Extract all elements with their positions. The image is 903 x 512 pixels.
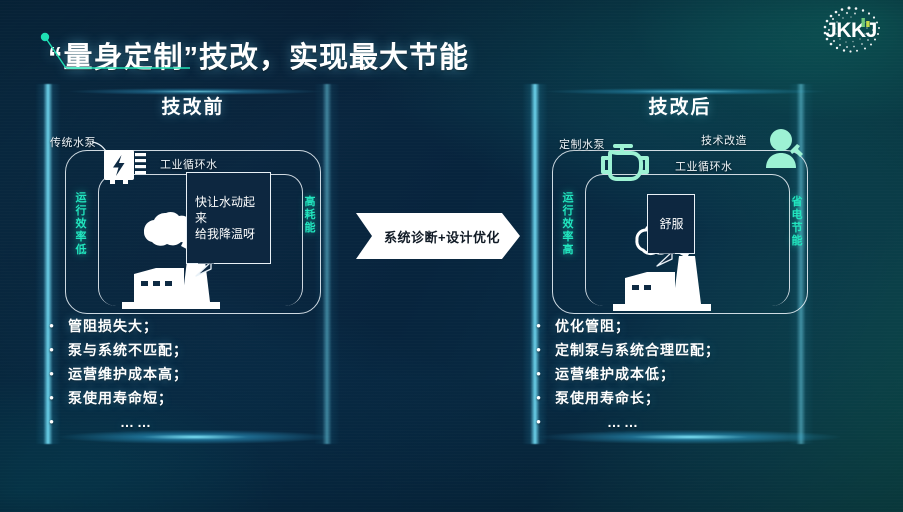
bullet-dot: • — [48, 362, 56, 386]
bullet-text: 泵与系统不匹配； — [68, 338, 188, 362]
panel-after-heading: 技改后 — [535, 92, 825, 119]
list-item: •优化管阻； — [535, 314, 825, 338]
list-item: •…… — [48, 410, 338, 434]
bullet-dot: • — [48, 386, 56, 410]
bullet-text-more: …… — [555, 410, 641, 434]
bullet-dot: • — [48, 338, 56, 362]
speech-bubble-before-text: 快让水动起来 给我降温呀 — [195, 195, 255, 241]
bullet-text: 定制泵与系统合理匹配； — [555, 338, 720, 362]
bullet-dot: • — [535, 410, 543, 434]
bullet-text-more: …… — [68, 410, 154, 434]
panel-before: 技改前 传统水泵 — [48, 92, 338, 444]
list-item: •运营维护成本低； — [535, 362, 825, 386]
bullet-dot: • — [48, 314, 56, 338]
left-metric-after: 运行效率高 — [561, 192, 575, 257]
panel-after: 技改后 定制水泵 工业循环水 技术改造 — [535, 92, 825, 444]
bullets-before: •管阻损失大； •泵与系统不匹配； •运营维护成本高； •泵使用寿命短； •…… — [48, 314, 338, 434]
bullet-text: 泵使用寿命短； — [68, 386, 173, 410]
bullet-dot: • — [535, 362, 543, 386]
bullet-text: 管阻损失大； — [68, 314, 158, 338]
speech-bubble-tail-after — [656, 252, 678, 267]
right-metric-before: 高耗能 — [303, 196, 317, 235]
list-item: •运营维护成本高； — [48, 362, 338, 386]
bullet-dot: • — [535, 314, 543, 338]
center-arrow-label: 系统诊断+设计优化 — [356, 213, 520, 259]
speech-bubble-after-text: 舒服 — [659, 217, 683, 231]
bullet-text: 运营维护成本低； — [555, 362, 675, 386]
brand-logo: JKKJ — [809, 4, 893, 56]
speech-bubble-before: 快让水动起来 给我降温呀 — [186, 172, 271, 264]
panel-before-heading: 技改前 — [48, 92, 338, 119]
slide-canvas: JKKJ “量身定制”技改，实现最大节能 技改前 传统水泵 — [0, 0, 903, 512]
list-item: •泵使用寿命短； — [48, 386, 338, 410]
speech-bubble-tail-before — [195, 262, 217, 277]
bullet-dot: • — [535, 386, 543, 410]
list-item: •泵与系统不匹配； — [48, 338, 338, 362]
pipe-label-after: 工业循环水 — [675, 158, 733, 174]
pipe-label-before: 工业循环水 — [160, 156, 218, 172]
custom-pump-icon — [597, 142, 653, 186]
list-item: •管阻损失大； — [48, 314, 338, 338]
page-title: “量身定制”技改，实现最大节能 — [48, 34, 469, 76]
center-arrow-banner: 系统诊断+设计优化 — [356, 213, 520, 259]
bullet-text: 运营维护成本高； — [68, 362, 188, 386]
electric-pump-icon — [102, 146, 152, 188]
bullet-text: 优化管阻； — [555, 314, 630, 338]
bullet-dot: • — [535, 338, 543, 362]
list-item: •定制泵与系统合理匹配； — [535, 338, 825, 362]
page-title-wrap: “量身定制”技改，实现最大节能 — [48, 34, 469, 76]
speech-bubble-after: 舒服 — [647, 194, 695, 254]
bullet-dot: • — [48, 410, 56, 434]
list-item: •…… — [535, 410, 825, 434]
technician-icon — [763, 128, 805, 172]
person-label-after: 技术改造 — [701, 132, 747, 148]
bullet-text: 泵使用寿命长； — [555, 386, 660, 410]
right-metric-after: 省电节能 — [790, 196, 804, 248]
panel-before-diagram: 传统水泵 工业循环水 运行效率低 高耗能 — [48, 132, 338, 322]
left-metric-before: 运行效率低 — [74, 192, 88, 257]
list-item: •泵使用寿命长； — [535, 386, 825, 410]
pump-label-before: 传统水泵 — [50, 134, 96, 150]
panel-after-diagram: 定制水泵 工业循环水 技术改造 — [535, 132, 825, 322]
bullets-after: •优化管阻； •定制泵与系统合理匹配； •运营维护成本低； •泵使用寿命长； •… — [535, 314, 825, 434]
